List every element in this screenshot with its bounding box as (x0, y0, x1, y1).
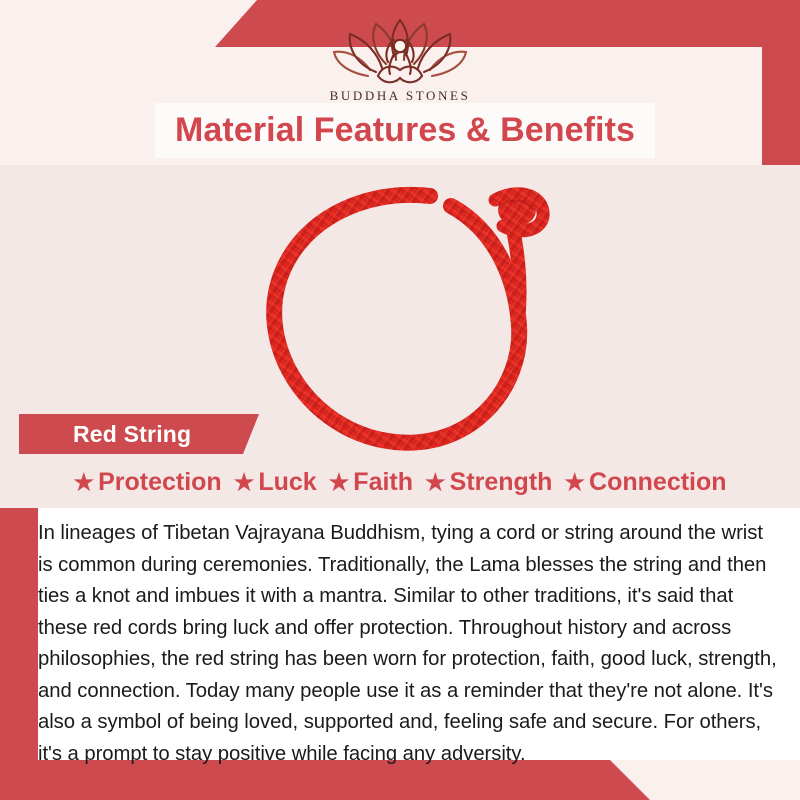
star-icon: ★ (564, 471, 585, 494)
feature-label: Luck (258, 468, 316, 497)
feature-list: ★ Protection ★ Luck ★ Faith ★ Strength ★… (0, 468, 800, 497)
brand-logo: BUDDHA STONES (0, 14, 800, 104)
star-icon: ★ (425, 471, 446, 494)
product-name-label: Red String (73, 421, 191, 448)
feature-label: Protection (98, 468, 222, 497)
product-name-ribbon: Red String (19, 414, 259, 454)
feature-item-luck: ★ Luck (234, 468, 317, 497)
star-icon: ★ (329, 471, 350, 494)
lotus-meditation-figure-icon (332, 14, 468, 86)
star-icon: ★ (73, 471, 94, 494)
feature-item-connection: ★ Connection (564, 468, 726, 497)
description-panel: In lineages of Tibetan Vajrayana Buddhis… (38, 508, 800, 760)
star-icon: ★ (234, 471, 255, 494)
feature-item-faith: ★ Faith (329, 468, 413, 497)
description-text: In lineages of Tibetan Vajrayana Buddhis… (38, 518, 778, 770)
page-title-box: Material Features & Benefits (155, 103, 655, 158)
feature-item-protection: ★ Protection (73, 468, 221, 497)
feature-label: Connection (589, 468, 727, 497)
adjustable-knot-icon (495, 194, 543, 231)
page-title: Material Features & Benefits (175, 111, 635, 150)
brand-name: BUDDHA STONES (0, 88, 800, 104)
feature-label: Strength (450, 468, 553, 497)
poster-canvas: BUDDHA STONES Material Features & Benefi… (0, 0, 800, 800)
feature-item-strength: ★ Strength (425, 468, 552, 497)
red-braided-string-bracelet (255, 180, 565, 470)
feature-label: Faith (353, 468, 413, 497)
